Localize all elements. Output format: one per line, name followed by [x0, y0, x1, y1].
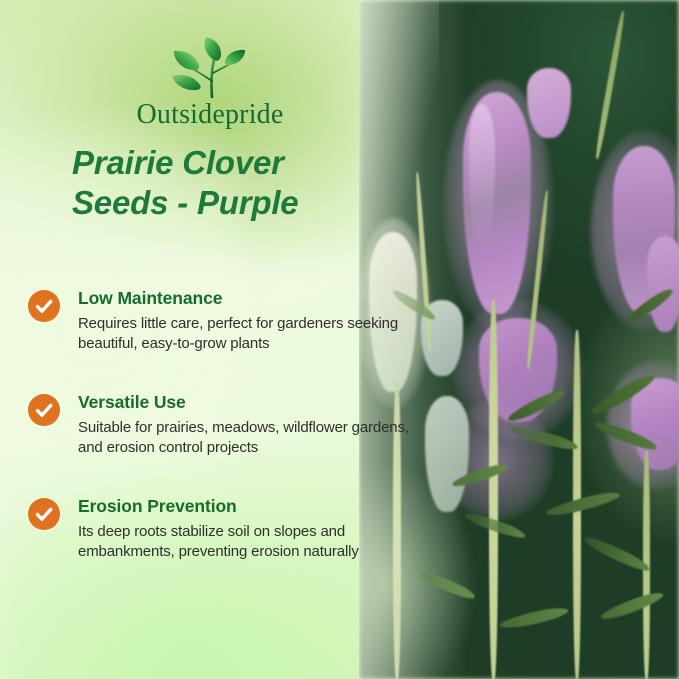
flower-spike-highlight	[469, 104, 495, 254]
feature-item-erosion-prevention: Erosion Prevention Its deep roots stabil…	[28, 496, 428, 562]
flower-crest-top	[527, 68, 571, 138]
product-title-line1: Prairie Clover	[72, 143, 402, 183]
product-image: Outsidepride Prairie Clover Seeds - Purp…	[0, 0, 679, 679]
feature-description: Its deep roots stabilize soil on slopes …	[78, 522, 428, 562]
feature-item-versatile-use: Versatile Use Suitable for prairies, mea…	[28, 392, 428, 458]
feature-list: Low Maintenance Requires little care, pe…	[28, 288, 428, 562]
brand-logo[interactable]: Outsidepride	[0, 33, 420, 129]
feature-description: Requires little care, perfect for garden…	[78, 314, 428, 354]
leaf-sprout-icon	[162, 33, 258, 99]
feature-description: Suitable for prairies, meadows, wildflow…	[78, 418, 428, 458]
feature-title: Erosion Prevention	[78, 496, 428, 517]
page-title: Prairie Clover Seeds - Purple	[72, 143, 402, 224]
check-circle-icon	[28, 290, 60, 322]
feature-item-low-maintenance: Low Maintenance Requires little care, pe…	[28, 288, 428, 354]
check-circle-icon	[28, 394, 60, 426]
plant-stem	[489, 300, 498, 679]
brand-name: Outsidepride	[0, 101, 420, 129]
feature-title: Low Maintenance	[78, 288, 428, 309]
flower-bud-top-right	[647, 236, 679, 332]
feature-title: Versatile Use	[78, 392, 428, 413]
check-circle-icon	[28, 498, 60, 530]
product-title-line2: Seeds - Purple	[72, 183, 402, 223]
